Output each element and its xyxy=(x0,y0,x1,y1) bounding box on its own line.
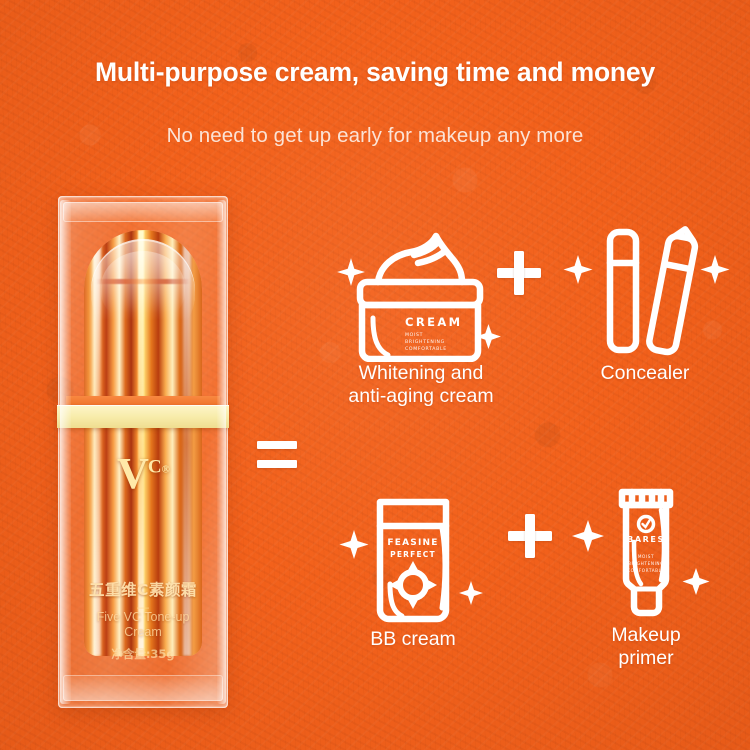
product-name-english-line1: Five VC Tone-up xyxy=(58,610,228,625)
benefit-label-line1: Whitening and xyxy=(310,362,532,385)
svg-text:COMFORTABLE: COMFORTABLE xyxy=(627,568,665,573)
brand-logo-letter: V xyxy=(117,449,148,498)
brand-logo: VC® xyxy=(58,452,228,496)
bottle-cap-seam xyxy=(96,279,190,284)
concealer-sticks-icon xyxy=(552,222,738,362)
product-name-english-line2: Cream xyxy=(58,625,228,640)
product-net-weight: 净含量:35g xyxy=(58,646,228,662)
box-bottom-edge xyxy=(63,675,223,701)
product-package: VC® 五重维C素颜霜 — Five VC Tone-up Cream 净含量:… xyxy=(58,196,228,708)
page-subtitle: No need to get up early for makeup any m… xyxy=(0,124,750,148)
bb-bottle-brand-line2: PERFECT xyxy=(390,550,436,559)
cream-jar-label: CREAM xyxy=(405,315,463,329)
page-title: Multi-purpose cream, saving time and mon… xyxy=(0,57,750,88)
product-name-chinese: 五重维C素颜霜 xyxy=(58,578,228,600)
benefit-label: Makeup primer xyxy=(548,624,744,670)
bb-bottle-brand-line1: FEASINE xyxy=(387,538,438,548)
benefit-label: Concealer xyxy=(552,362,738,385)
benefit-concealer: Concealer xyxy=(552,222,738,385)
product-name-english: Five VC Tone-up Cream xyxy=(58,610,228,640)
registered-trademark-icon: ® xyxy=(162,463,169,475)
benefit-whitening-anti-aging-cream: CREAM MOIST BRIGHTENING COMFORTABLE Whit… xyxy=(310,222,532,408)
svg-text:MOIST: MOIST xyxy=(638,554,654,559)
cream-jar-icon: CREAM MOIST BRIGHTENING COMFORTABLE xyxy=(310,222,532,362)
plus-icon-bottom xyxy=(508,514,552,558)
benefit-label-line1: Concealer xyxy=(552,362,738,385)
benefit-label: BB cream xyxy=(318,628,508,651)
benefit-makeup-primer: BARES MOIST BRIGHTENING COMFORTABLE Make… xyxy=(548,484,744,670)
svg-text:BRIGHTENING: BRIGHTENING xyxy=(628,561,664,566)
benefit-label-line1: Makeup xyxy=(548,624,744,647)
svg-text:COMFORTABLE: COMFORTABLE xyxy=(405,346,447,352)
benefit-label-line2: primer xyxy=(548,647,744,670)
brand-logo-superscript: C xyxy=(148,456,162,477)
sunburst-icon xyxy=(389,561,437,609)
tube-brand-emblem xyxy=(639,517,654,532)
plus-bar-vertical xyxy=(525,514,535,558)
box-glare-right xyxy=(217,200,226,704)
benefit-label-line1: BB cream xyxy=(318,628,508,651)
svg-text:MOIST: MOIST xyxy=(405,332,423,338)
benefit-bb-cream: FEASINE PERFECT BB cream xyxy=(318,488,508,651)
equals-bar-bottom xyxy=(257,460,297,468)
package-cream-band xyxy=(57,405,229,428)
svg-text:BRIGHTENING: BRIGHTENING xyxy=(405,339,445,345)
bb-cream-bottle-icon: FEASINE PERFECT xyxy=(318,488,508,628)
box-glare-left xyxy=(60,200,71,704)
advertisement-canvas: Multi-purpose cream, saving time and mon… xyxy=(0,0,750,750)
benefit-label-line2: anti-aging cream xyxy=(310,385,532,408)
equals-bar-top xyxy=(257,441,297,449)
primer-tube-icon: BARES MOIST BRIGHTENING COMFORTABLE xyxy=(548,484,744,624)
box-top-edge xyxy=(63,202,223,222)
equals-icon xyxy=(257,441,297,471)
bottle-dome-gloss-inner xyxy=(101,251,186,323)
sparkle xyxy=(564,255,730,284)
benefit-label: Whitening and anti-aging cream xyxy=(310,362,532,408)
tube-brand-text: BARES xyxy=(627,535,665,544)
